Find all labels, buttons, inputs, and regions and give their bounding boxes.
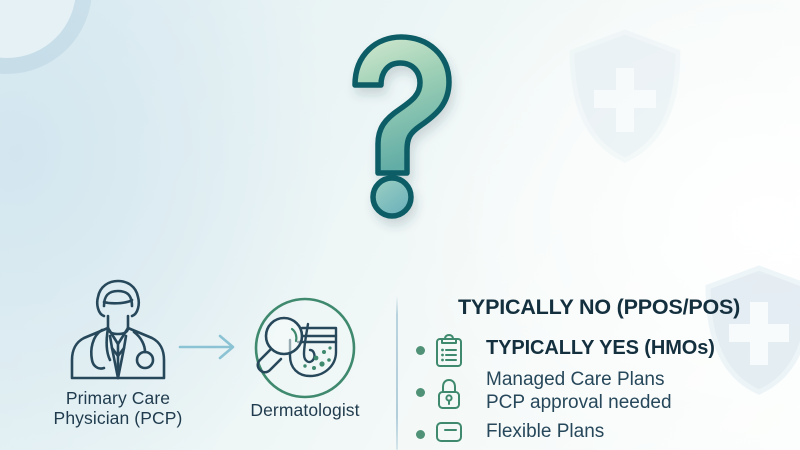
list-item-label: Flexible Plans [486,421,604,443]
pcp-figure: Primary Care Physician (PCP) [48,278,188,428]
pcp-label: Primary Care Physician (PCP) [48,388,188,428]
slide-canvas: Primary Care Physician (PCP) [0,0,800,450]
clipboard-checklist-icon [434,334,464,368]
referral-list: TYPICALLY YES (HMOs) Managed Care P [412,332,800,450]
vertical-divider [396,296,398,450]
circle-watermark [0,0,92,74]
list-item: Managed Care Plans PCP approval needed [412,374,800,416]
list-item-label: Managed Care Plans PCP approval needed [486,368,672,414]
shield-cross-icon [564,28,686,164]
circle-watermark-inner [0,0,76,58]
arrow-right-icon [178,332,240,362]
dermatologist-figure: Dermatologist [236,296,374,420]
dermatology-magnifier-icon [236,296,374,400]
bullet-dot [416,430,425,439]
bullet-dot [416,388,425,397]
referral-panel: TYPICALLY NO (PPOS/POS) [412,290,800,450]
dermatologist-label: Dermatologist [236,400,374,420]
list-item: Flexible Plans [412,416,800,450]
card-icon [434,419,464,450]
lock-icon [434,378,464,412]
bullet-dot [416,346,425,355]
question-mark-icon [330,32,470,227]
doctor-icon [48,278,188,388]
list-item-label: TYPICALLY YES (HMOs) [486,337,715,360]
referral-headline: TYPICALLY NO (PPOS/POS) [458,295,740,320]
